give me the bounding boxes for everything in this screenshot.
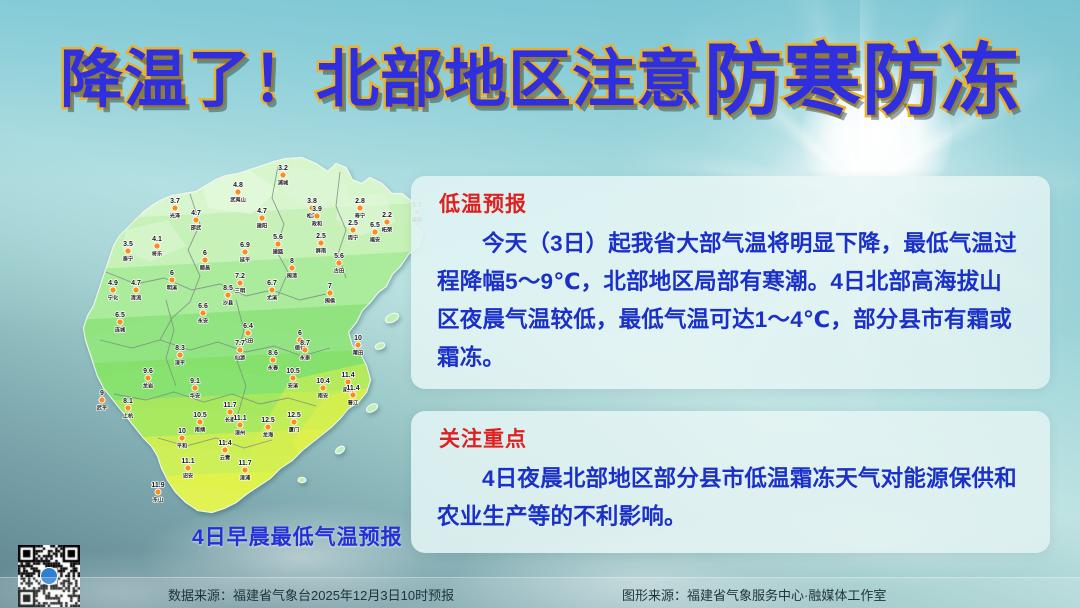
panel-body-forecast: 今天（3日）起我省大部气温将明显下降，最低气温过程降幅5～9℃，北部地区局部有寒… — [437, 225, 1024, 377]
svg-text:福安: 福安 — [369, 236, 380, 244]
panel-heading-forecast: 低温预报 — [439, 192, 1024, 217]
svg-text:漳州: 漳州 — [235, 429, 245, 437]
svg-text:9.1: 9.1 — [190, 378, 200, 385]
svg-text:南靖: 南靖 — [195, 426, 206, 434]
svg-text:4.9: 4.9 — [108, 280, 118, 287]
svg-text:云霄: 云霄 — [220, 454, 230, 462]
svg-text:连城: 连城 — [115, 326, 126, 334]
station-dot-icon — [350, 392, 356, 398]
svg-text:12.5: 12.5 — [261, 417, 275, 424]
panel-body-focus: 4日夜晨北部地区部分县市低温霜冻天气对能源保供和农业生产等的不利影响。 — [437, 460, 1024, 536]
station-dot-icon — [179, 435, 185, 441]
station-dot-icon — [235, 189, 241, 195]
svg-text:8.6: 8.6 — [268, 350, 278, 357]
station-dot-icon — [290, 375, 296, 381]
svg-text:浦城: 浦城 — [278, 179, 289, 187]
station-dot-icon — [193, 217, 199, 223]
svg-text:周宁: 周宁 — [348, 234, 358, 242]
station-dot-icon — [270, 357, 276, 363]
footer-bar: 数据来源：福建省气象台2025年12月3日10时预报 图形来源：福建省气象服务中… — [0, 577, 1080, 608]
page-title: 降温了！北部地区注意防寒防冻 — [0, 32, 1080, 128]
svg-text:上杭: 上杭 — [123, 412, 134, 420]
map-station: 10莆田 — [353, 335, 363, 357]
station-dot-icon — [155, 489, 161, 495]
svg-text:武平: 武平 — [97, 404, 108, 412]
svg-text:8.7: 8.7 — [300, 340, 310, 347]
svg-text:厦门: 厦门 — [289, 426, 299, 434]
svg-text:顺昌: 顺昌 — [200, 264, 210, 272]
map-landmass — [70, 150, 440, 550]
svg-text:龙岩: 龙岩 — [142, 382, 154, 390]
map-station: 9武平 — [97, 390, 108, 412]
station-dot-icon — [280, 172, 286, 178]
station-dot-icon — [350, 227, 356, 233]
svg-text:6.4: 6.4 — [243, 323, 253, 330]
svg-text:4.7: 4.7 — [191, 210, 201, 217]
station-dot-icon — [99, 397, 105, 403]
svg-text:光泽: 光泽 — [169, 212, 181, 220]
station-dot-icon — [320, 385, 326, 391]
svg-text:武夷山: 武夷山 — [230, 196, 246, 204]
svg-text:6.9: 6.9 — [240, 242, 250, 249]
station-dot-icon — [355, 342, 361, 348]
svg-text:泰宁: 泰宁 — [122, 255, 133, 263]
station-dot-icon — [259, 215, 265, 221]
station-dot-icon — [222, 447, 228, 453]
station-dot-icon — [384, 219, 390, 225]
station-dot-icon — [336, 260, 342, 266]
infographic-canvas: 降温了！北部地区注意防寒防冻 — [0, 0, 1080, 608]
station-dot-icon — [225, 292, 231, 298]
temperature-map[interactable]: 3.2浦城4.8武夷山3.7光泽4.7邵武4.7建阳3.8松溪3.9政和5.6建… — [40, 150, 400, 550]
svg-text:11.4: 11.4 — [346, 385, 359, 392]
station-dot-icon — [318, 240, 324, 246]
svg-text:8.5: 8.5 — [223, 285, 233, 292]
svg-text:安溪: 安溪 — [288, 382, 299, 390]
station-dot-icon — [372, 229, 378, 235]
svg-text:4.1: 4.1 — [152, 236, 162, 243]
svg-text:3.2: 3.2 — [278, 165, 288, 172]
svg-text:柘荣: 柘荣 — [381, 226, 393, 234]
svg-text:11.1: 11.1 — [233, 415, 246, 422]
map-svg: 3.2浦城4.8武夷山3.7光泽4.7邵武4.7建阳3.8松溪3.9政和5.6建… — [40, 150, 440, 550]
svg-text:政和: 政和 — [312, 220, 322, 228]
station-dot-icon — [242, 467, 248, 473]
svg-text:11.1: 11.1 — [181, 458, 194, 465]
svg-text:11.7: 11.7 — [238, 460, 251, 467]
station-dot-icon — [125, 405, 131, 411]
station-dot-icon — [172, 205, 178, 211]
svg-text:6.5: 6.5 — [370, 222, 380, 229]
svg-text:闽侯: 闽侯 — [325, 297, 336, 305]
svg-text:9: 9 — [100, 390, 104, 397]
svg-text:寿宁: 寿宁 — [355, 212, 365, 220]
station-dot-icon — [314, 213, 320, 219]
svg-text:2.8: 2.8 — [355, 198, 365, 205]
svg-text:6.7: 6.7 — [267, 280, 277, 287]
svg-text:6.6: 6.6 — [198, 303, 208, 310]
station-dot-icon — [185, 465, 191, 471]
svg-text:6: 6 — [298, 330, 302, 337]
svg-text:漳浦: 漳浦 — [240, 474, 251, 482]
svg-text:10.4: 10.4 — [316, 378, 330, 385]
svg-text:10: 10 — [178, 428, 186, 435]
station-dot-icon — [289, 265, 295, 271]
station-dot-icon — [227, 409, 233, 415]
svg-text:10.5: 10.5 — [193, 412, 207, 419]
svg-text:2.2: 2.2 — [382, 212, 392, 219]
svg-text:尤溪: 尤溪 — [267, 294, 278, 302]
svg-text:东山: 东山 — [153, 496, 163, 504]
svg-text:延平: 延平 — [239, 256, 251, 264]
svg-text:4.7: 4.7 — [257, 208, 267, 215]
station-dot-icon — [197, 419, 203, 425]
svg-text:屏南: 屏南 — [316, 247, 326, 255]
svg-text:将乐: 将乐 — [152, 250, 163, 258]
svg-text:2.5: 2.5 — [316, 233, 326, 240]
svg-text:3.8: 3.8 — [307, 198, 317, 205]
svg-text:8: 8 — [290, 258, 294, 265]
svg-text:沙县: 沙县 — [223, 299, 233, 307]
svg-text:古田: 古田 — [334, 267, 344, 275]
station-dot-icon — [200, 310, 206, 316]
svg-text:诏安: 诏安 — [183, 472, 193, 480]
svg-text:龙海: 龙海 — [262, 431, 274, 439]
station-dot-icon — [269, 287, 275, 293]
station-dot-icon — [265, 424, 271, 430]
station-dot-icon — [125, 248, 131, 254]
panel-heading-focus: 关注重点 — [439, 427, 1024, 452]
svg-text:南安: 南安 — [318, 392, 328, 400]
svg-text:11.4: 11.4 — [218, 440, 231, 447]
station-dot-icon — [154, 243, 160, 249]
station-dot-icon — [237, 347, 243, 353]
svg-text:7: 7 — [328, 283, 332, 290]
station-dot-icon — [110, 287, 116, 293]
svg-text:10: 10 — [354, 335, 362, 342]
svg-text:3.7: 3.7 — [170, 198, 180, 205]
svg-text:华安: 华安 — [190, 392, 200, 400]
station-dot-icon — [291, 419, 297, 425]
station-dot-icon — [145, 375, 151, 381]
station-dot-icon — [242, 249, 248, 255]
page-title-part1: 降温了！北部地区注意 — [60, 49, 700, 112]
station-dot-icon — [245, 330, 251, 336]
svg-text:8.1: 8.1 — [123, 398, 133, 405]
station-dot-icon — [192, 385, 198, 391]
map-station: 11.9东山 — [151, 482, 164, 504]
svg-text:三明: 三明 — [235, 287, 245, 295]
svg-text:明溪: 明溪 — [167, 284, 178, 292]
svg-text:6: 6 — [203, 250, 207, 257]
svg-text:5.6: 5.6 — [334, 253, 344, 260]
svg-text:12.5: 12.5 — [287, 412, 301, 419]
station-dot-icon — [202, 257, 208, 263]
svg-text:清流: 清流 — [131, 294, 142, 302]
station-dot-icon — [302, 347, 308, 353]
station-dot-icon — [237, 280, 243, 286]
svg-text:5.6: 5.6 — [273, 234, 283, 241]
svg-text:3.5: 3.5 — [123, 241, 133, 248]
page-title-part2: 防寒防冻 — [704, 41, 1020, 119]
footer-graphic-source: 图形来源：福建省气象服务中心·融媒体工作室 — [622, 585, 886, 604]
svg-text:永春: 永春 — [267, 364, 279, 372]
svg-text:建瓯: 建瓯 — [273, 248, 284, 256]
svg-text:7.7: 7.7 — [235, 340, 245, 347]
footer-data-source: 数据来源：福建省气象台2025年12月3日10时预报 — [168, 585, 454, 604]
station-dot-icon — [133, 287, 139, 293]
station-dot-icon — [169, 277, 175, 283]
svg-text:仙游: 仙游 — [235, 354, 246, 362]
station-dot-icon — [237, 422, 243, 428]
station-dot-icon — [327, 290, 333, 296]
svg-text:9.6: 9.6 — [143, 368, 153, 375]
svg-text:永泰: 永泰 — [299, 354, 311, 362]
station-dot-icon — [275, 241, 281, 247]
panel-low-temperature-forecast: 低温预报 今天（3日）起我省大部气温将明显下降，最低气温过程降幅5～9℃，北部地… — [411, 176, 1050, 389]
svg-text:建阳: 建阳 — [257, 222, 267, 230]
map-caption: 4日早晨最低气温预报 — [192, 521, 403, 551]
svg-text:6: 6 — [170, 270, 174, 277]
svg-text:11.7: 11.7 — [223, 402, 236, 409]
svg-text:宁化: 宁化 — [108, 294, 119, 302]
panel-key-concerns: 关注重点 4日夜晨北部地区部分县市低温霜冻天气对能源保供和农业生产等的不利影响。 — [411, 411, 1050, 553]
svg-text:11.4: 11.4 — [341, 372, 354, 379]
svg-text:4.7: 4.7 — [131, 280, 141, 287]
svg-text:7.2: 7.2 — [235, 273, 245, 280]
svg-text:平和: 平和 — [177, 442, 187, 450]
svg-text:漳平: 漳平 — [175, 359, 186, 367]
svg-text:6.5: 6.5 — [115, 312, 125, 319]
svg-text:邵武: 邵武 — [190, 224, 202, 232]
svg-text:2.5: 2.5 — [348, 220, 358, 227]
svg-text:11.9: 11.9 — [151, 482, 164, 489]
svg-text:晋江: 晋江 — [348, 399, 359, 407]
station-dot-icon — [117, 319, 123, 325]
svg-text:闽清: 闽清 — [287, 272, 298, 280]
svg-text:10.5: 10.5 — [286, 368, 300, 375]
station-dot-icon — [357, 205, 363, 211]
svg-text:永安: 永安 — [197, 317, 208, 325]
svg-text:4.8: 4.8 — [233, 182, 243, 189]
station-dot-icon — [177, 352, 183, 358]
svg-text:3.9: 3.9 — [312, 206, 322, 213]
svg-text:8.3: 8.3 — [175, 345, 185, 352]
svg-text:莆田: 莆田 — [353, 349, 363, 357]
